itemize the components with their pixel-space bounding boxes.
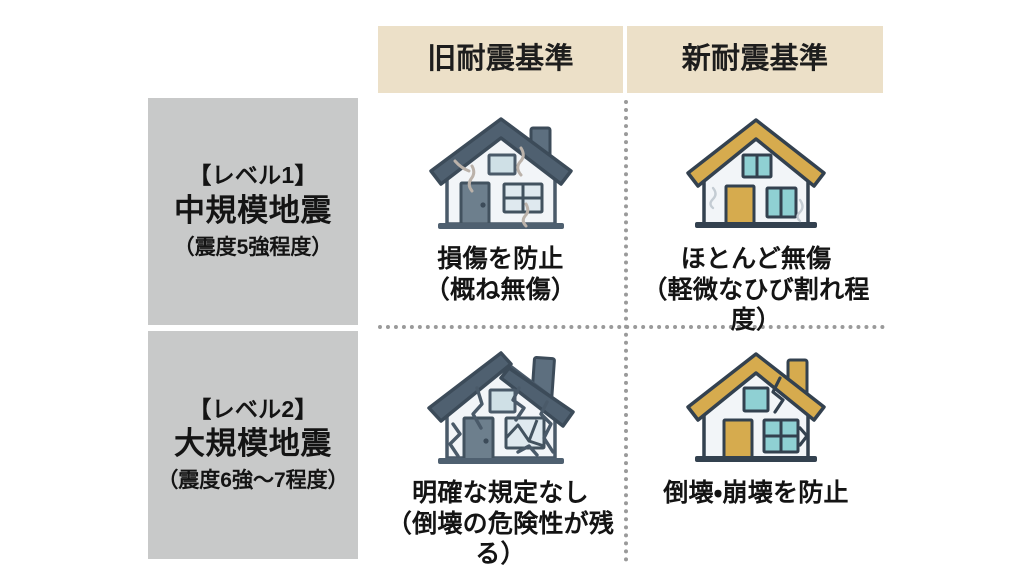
cell-new-standard-level-1-sub: （軽微なひび割れ程度） bbox=[629, 275, 883, 336]
cell-new-standard-level-2: 倒壊・崩壊を防止 bbox=[629, 334, 883, 559]
row-header-level-1-level: 【レベル1】 bbox=[188, 162, 317, 190]
cell-new-standard-level-1: ほとんど無傷 （軽微なひび割れ程度） bbox=[629, 100, 883, 322]
cell-old-standard-level-2: 明確な規定なし （倒壊の危険性が残る） bbox=[378, 334, 623, 559]
cell-old-standard-level-1-main: 損傷を防止 bbox=[425, 244, 577, 275]
cell-old-standard-level-1-caption: 損傷を防止 （概ね無傷） bbox=[425, 244, 577, 305]
column-header-new-standard: 新耐震基準 bbox=[627, 26, 883, 93]
house-gray-heavily-damaged-icon bbox=[417, 342, 585, 472]
row-header-level-2-sub: （震度6強〜7程度） bbox=[157, 468, 348, 494]
cell-new-standard-level-1-main: ほとんど無傷 bbox=[629, 244, 883, 275]
row-header-level-2-level: 【レベル2】 bbox=[188, 396, 317, 424]
cell-old-standard-level-2-main: 明確な規定なし bbox=[378, 478, 623, 509]
cell-old-standard-level-2-caption: 明確な規定なし （倒壊の危険性が残る） bbox=[378, 478, 623, 570]
house-gray-cracked-minor-icon bbox=[417, 108, 585, 238]
cell-old-standard-level-2-sub: （倒壊の危険性が残る） bbox=[378, 509, 623, 570]
row-header-level-1: 【レベル1】 中規模地震 （震度5強程度） bbox=[148, 98, 358, 325]
cell-new-standard-level-1-caption: ほとんど無傷 （軽微なひび割れ程度） bbox=[629, 244, 883, 336]
column-header-new-standard-label: 新耐震基準 bbox=[682, 45, 829, 74]
row-header-level-1-title: 中規模地震 bbox=[174, 192, 332, 231]
cell-new-standard-level-2-main: 倒壊・崩壊を防止 bbox=[663, 478, 849, 509]
cell-old-standard-level-1: 損傷を防止 （概ね無傷） bbox=[378, 100, 623, 322]
cell-new-standard-level-2-caption: 倒壊・崩壊を防止 bbox=[663, 478, 849, 509]
house-gold-intact-icon bbox=[672, 108, 840, 238]
row-header-level-2: 【レベル2】 大規模地震 （震度6強〜7程度） bbox=[148, 331, 358, 559]
house-gold-cracked-icon bbox=[672, 342, 840, 472]
vertical-divider bbox=[624, 100, 628, 562]
row-header-level-2-title: 大規模地震 bbox=[174, 425, 332, 464]
comparison-table: 旧耐震基準 新耐震基準 【レベル1】 中規模地震 （震度5強程度） 【レベル2】… bbox=[0, 0, 1024, 576]
row-header-level-1-sub: （震度5強程度） bbox=[174, 235, 333, 261]
cell-old-standard-level-1-sub: （概ね無傷） bbox=[425, 275, 577, 306]
column-header-old-standard-label: 旧耐震基準 bbox=[427, 45, 574, 74]
column-header-old-standard: 旧耐震基準 bbox=[378, 26, 623, 93]
